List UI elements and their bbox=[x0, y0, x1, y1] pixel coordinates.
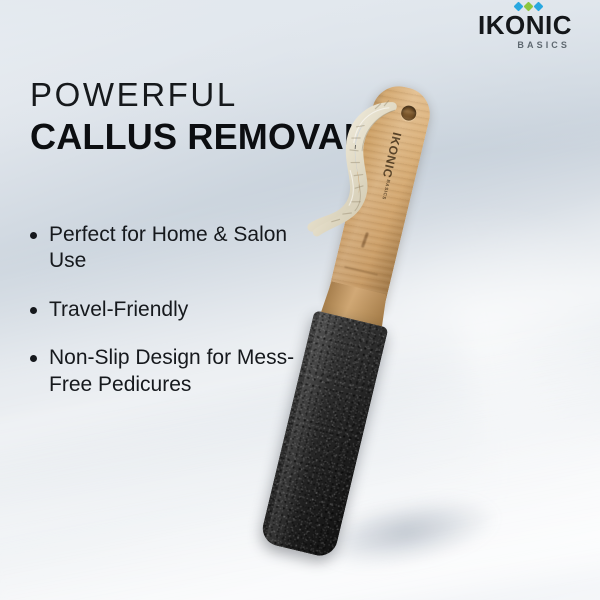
handle-brand-stamp: IKONICBASICS bbox=[378, 131, 404, 187]
hang-hole bbox=[400, 104, 418, 122]
bullet-dot-icon bbox=[30, 355, 37, 362]
bullet-dot-icon bbox=[30, 232, 37, 239]
bullet-dot-icon bbox=[30, 307, 37, 314]
logo-diamond-icon-1 bbox=[514, 2, 524, 12]
product-image: IKONICBASICS bbox=[296, 72, 596, 582]
wood-grain-mark bbox=[361, 232, 369, 248]
list-item: Non-Slip Design for Mess-Free Pedicures bbox=[30, 345, 330, 398]
product-banner: IKONIC BASICS POWERFUL CALLUS REMOVAL Pe… bbox=[0, 0, 600, 600]
handle-brand-word: IKONIC bbox=[380, 131, 405, 180]
handle-brand-sub: BASICS bbox=[381, 179, 391, 201]
logo-diamond-icon-2 bbox=[524, 2, 534, 12]
logo-diamond-icons bbox=[515, 3, 542, 10]
feature-text: Travel-Friendly bbox=[49, 297, 188, 323]
feature-list: Perfect for Home & Salon Use Travel-Frie… bbox=[30, 222, 330, 420]
logo-subtitle: BASICS bbox=[478, 41, 570, 50]
wood-grain-line bbox=[344, 266, 378, 276]
logo-wordmark: IKONIC bbox=[478, 12, 572, 38]
feature-text: Perfect for Home & Salon Use bbox=[49, 222, 330, 275]
wooden-handle: IKONICBASICS bbox=[326, 81, 436, 316]
brand-logo: IKONIC BASICS bbox=[478, 12, 572, 50]
logo-diamond-icon-3 bbox=[534, 2, 544, 12]
list-item: Perfect for Home & Salon Use bbox=[30, 222, 330, 275]
list-item: Travel-Friendly bbox=[30, 297, 330, 323]
